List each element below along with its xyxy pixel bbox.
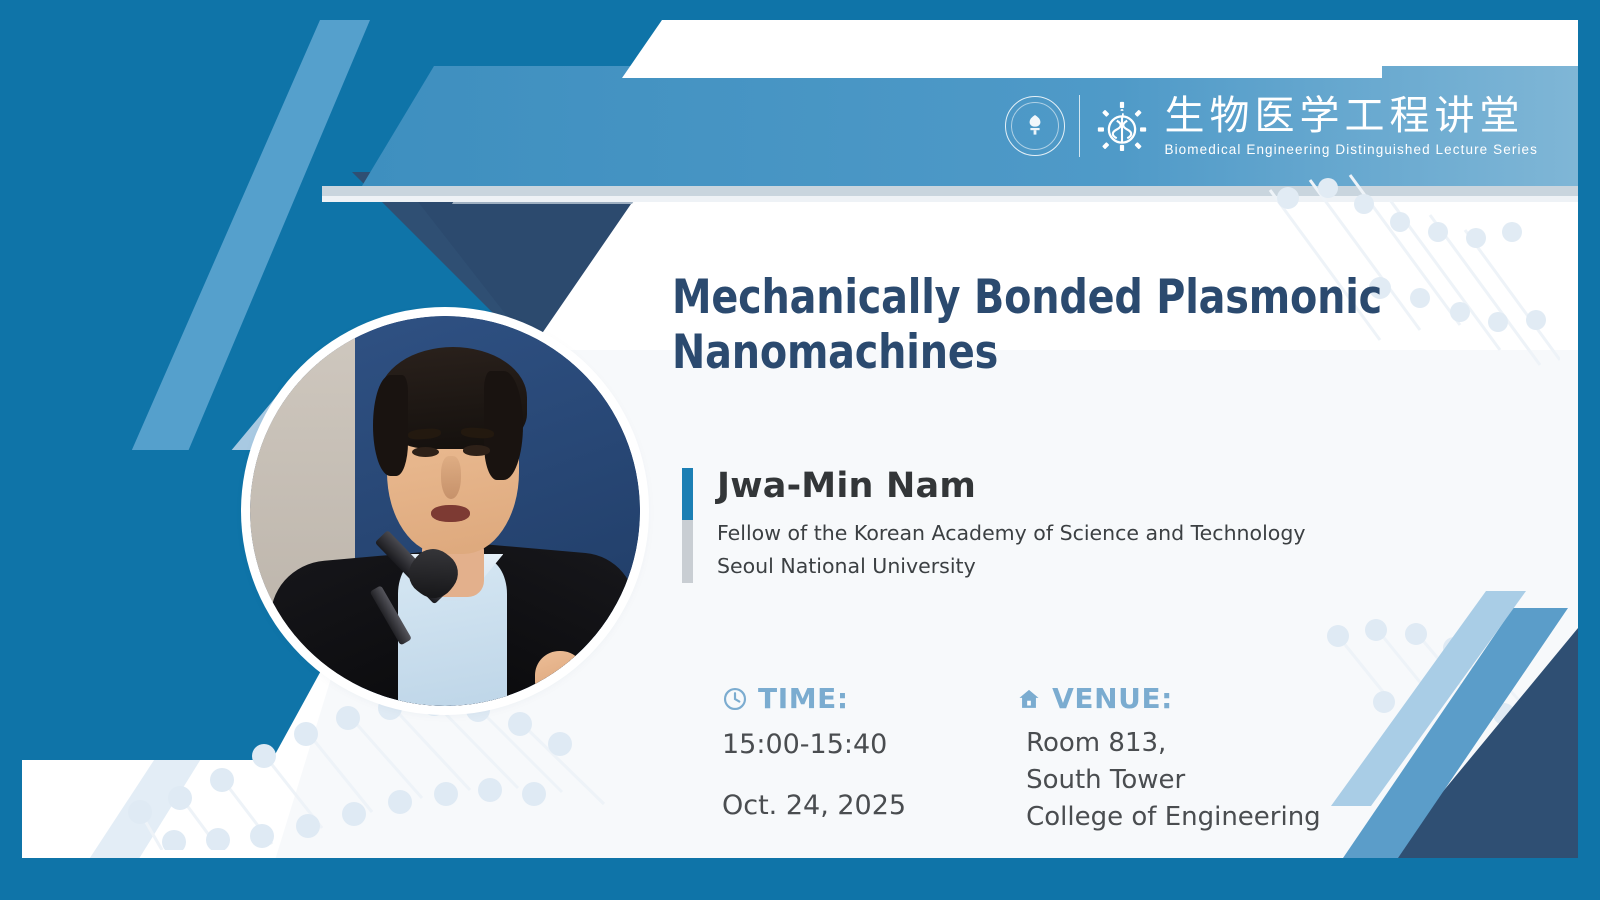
header-title-group: 生物医学工程讲堂 Biomedical Engineering Distingu…	[1164, 96, 1538, 157]
venue-line-3: College of Engineering	[1016, 799, 1321, 836]
event-date: Oct. 24, 2025	[722, 786, 906, 825]
header-underline-pale	[322, 196, 1578, 202]
avatar	[250, 316, 640, 706]
page-title: Mechanically Bonded Plasmonic Nanomachin…	[672, 270, 1552, 380]
venue-heading: VENUE:	[1016, 682, 1321, 715]
geo-gray-block	[22, 420, 212, 650]
time-heading: TIME:	[722, 682, 906, 715]
chevron-stripes-decoration-navy	[1328, 628, 1578, 858]
venue-line-1: Room 813,	[1016, 725, 1321, 762]
header-underline-gray	[322, 186, 1578, 196]
talk-title: Mechanically Bonded Plasmonic Nanomachin…	[672, 270, 1499, 380]
home-icon	[1016, 686, 1042, 712]
dna-helix-icon-bottom-right	[1318, 618, 1558, 818]
poster-root: 生物医学工程讲堂 Biomedical Engineering Distingu…	[0, 0, 1600, 900]
speaker-block: Jwa-Min Nam Fellow of the Korean Academy…	[682, 468, 1305, 583]
header-logo-group: 生物医学工程讲堂 Biomedical Engineering Distingu…	[1005, 78, 1538, 174]
university-seal-torch-icon	[1005, 96, 1065, 156]
chevron-stripes-decoration-blue	[1318, 608, 1568, 858]
venue-label: VENUE:	[1052, 682, 1173, 715]
poster-canvas: 生物医学工程讲堂 Biomedical Engineering Distingu…	[22, 20, 1578, 858]
series-title-en: Biomedical Engineering Distinguished Lec…	[1164, 142, 1538, 157]
time-range: 15:00-15:40	[722, 725, 906, 764]
vertical-divider-icon	[1079, 95, 1081, 157]
speaker-affiliation-line-2: Seoul National University	[717, 550, 1305, 583]
time-block: TIME: 15:00-15:40 Oct. 24, 2025	[722, 682, 906, 836]
clock-icon	[722, 686, 748, 712]
gear-caduceus-icon	[1094, 98, 1150, 154]
speaker-affiliation-line-1: Fellow of the Korean Academy of Science …	[717, 517, 1305, 550]
chevron-stripes-decoration-pale	[1311, 591, 1526, 806]
speaker-text: Jwa-Min Nam Fellow of the Korean Academy…	[717, 468, 1305, 583]
venue-line-2: South Tower	[1016, 762, 1321, 799]
speaker-name: Jwa-Min Nam	[717, 468, 1305, 505]
series-title-zh: 生物医学工程讲堂	[1164, 96, 1538, 136]
speaker-accent-bar	[682, 468, 693, 583]
time-label: TIME:	[758, 682, 849, 715]
venue-block: VENUE: Room 813, South Tower College of …	[1016, 682, 1321, 836]
speaker-portrait	[250, 316, 640, 706]
event-details: TIME: 15:00-15:40 Oct. 24, 2025 VENUE: R…	[722, 682, 1321, 836]
